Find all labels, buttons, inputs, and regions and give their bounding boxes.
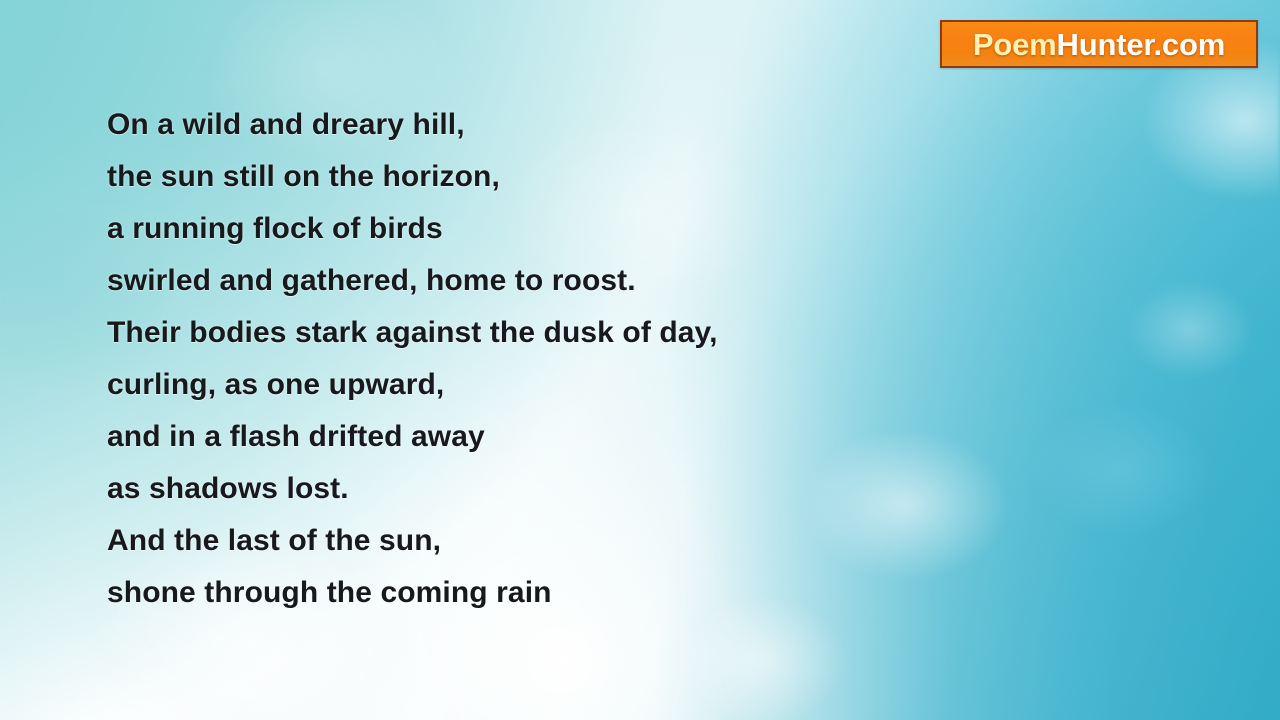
poemhunter-logo-text: PoemHunter.com — [973, 29, 1225, 60]
poem-body: On a wild and dreary hill, the sun still… — [107, 99, 1107, 619]
poem-image-card: PoemHunter.com On a wild and dreary hill… — [0, 0, 1280, 720]
logo-word-hunter-dot-com: Hunter.com — [1057, 27, 1226, 62]
poemhunter-logo-badge[interactable]: PoemHunter.com — [940, 20, 1258, 68]
logo-word-poem: Poem — [973, 27, 1057, 62]
poem-line: swirled and gathered, home to roost. — [107, 255, 1107, 307]
poem-line: the sun still on the horizon, — [107, 151, 1107, 203]
poem-line: And the last of the sun, — [107, 515, 1107, 567]
poem-line: curling, as one upward, — [107, 359, 1107, 411]
poem-line: Their bodies stark against the dusk of d… — [107, 307, 1107, 359]
poem-line: and in a flash drifted away — [107, 411, 1107, 463]
poem-line: On a wild and dreary hill, — [107, 99, 1107, 151]
poem-line: shone through the coming rain — [107, 567, 1107, 619]
poem-line: as shadows lost. — [107, 463, 1107, 515]
poem-line: a running flock of birds — [107, 203, 1107, 255]
